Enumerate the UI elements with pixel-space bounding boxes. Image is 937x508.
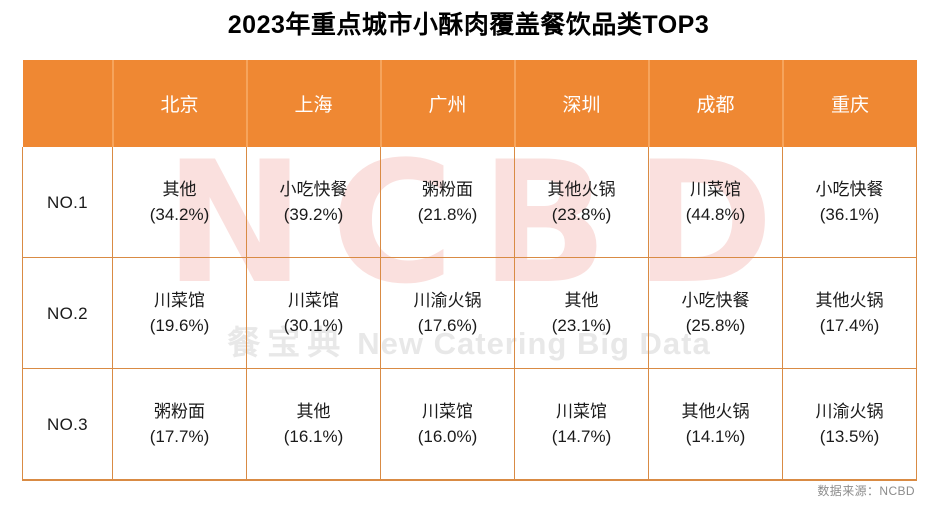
column-header-shanghai: 上海 xyxy=(247,60,381,147)
cell-percent: (21.8%) xyxy=(383,202,512,227)
source-note: 数据来源：NCBD xyxy=(817,482,915,499)
cell-category: 粥粉面 xyxy=(115,399,244,424)
cell-percent: (36.1%) xyxy=(785,202,914,227)
cell-percent: (19.6%) xyxy=(115,313,244,338)
table-cell: 川渝火锅 (13.5%) xyxy=(783,369,917,481)
cell-percent: (16.1%) xyxy=(249,424,378,449)
table-cell: 粥粉面 (17.7%) xyxy=(113,369,247,481)
cell-percent: (23.8%) xyxy=(517,202,646,227)
cell-category: 川菜馆 xyxy=(651,177,780,202)
table-row: NO.1 其他 (34.2%) 小吃快餐 (39.2%) 粥粉面 (21.8%) xyxy=(23,147,917,258)
cell-percent: (14.7%) xyxy=(517,424,646,449)
column-header-guangzhou: 广州 xyxy=(381,60,515,147)
cell-percent: (16.0%) xyxy=(383,424,512,449)
top3-table: 北京 上海 广州 深圳 成都 重庆 NO.1 其他 (34.2%) 小吃快餐 xyxy=(22,60,917,481)
column-header-chongqing: 重庆 xyxy=(783,60,917,147)
table-cell: 川渝火锅 (17.6%) xyxy=(381,258,515,369)
top3-table-container: 北京 上海 广州 深圳 成都 重庆 NO.1 其他 (34.2%) 小吃快餐 xyxy=(22,60,916,481)
cell-percent: (44.8%) xyxy=(651,202,780,227)
table-cell: 川菜馆 (16.0%) xyxy=(381,369,515,481)
table-body: NO.1 其他 (34.2%) 小吃快餐 (39.2%) 粥粉面 (21.8%) xyxy=(23,147,917,480)
cell-category: 川菜馆 xyxy=(517,399,646,424)
table-row: NO.3 粥粉面 (17.7%) 其他 (16.1%) 川菜馆 (16.0%) xyxy=(23,369,917,481)
column-header-chengdu: 成都 xyxy=(649,60,783,147)
table-cell: 粥粉面 (21.8%) xyxy=(381,147,515,258)
table-cell: 其他 (34.2%) xyxy=(113,147,247,258)
cell-category: 川渝火锅 xyxy=(383,288,512,313)
table-cell: 小吃快餐 (36.1%) xyxy=(783,147,917,258)
table-cell: 小吃快餐 (39.2%) xyxy=(247,147,381,258)
row-header-rank: NO.3 xyxy=(23,369,113,481)
cell-category: 川菜馆 xyxy=(383,399,512,424)
chart-page: 2023年重点城市小酥肉覆盖餐饮品类TOP3 NCBD 餐宝典New Cater… xyxy=(0,0,937,508)
cell-percent: (17.4%) xyxy=(785,313,914,338)
table-cell: 其他火锅 (17.4%) xyxy=(783,258,917,369)
cell-category: 川菜馆 xyxy=(249,288,378,313)
cell-category: 其他 xyxy=(249,399,378,424)
table-cell: 川菜馆 (19.6%) xyxy=(113,258,247,369)
cell-percent: (23.1%) xyxy=(517,313,646,338)
table-cell: 川菜馆 (14.7%) xyxy=(515,369,649,481)
cell-percent: (39.2%) xyxy=(249,202,378,227)
cell-percent: (25.8%) xyxy=(651,313,780,338)
table-cell: 其他火锅 (23.8%) xyxy=(515,147,649,258)
table-header: 北京 上海 广州 深圳 成都 重庆 xyxy=(23,60,917,147)
cell-category: 小吃快餐 xyxy=(651,288,780,313)
table-cell: 川菜馆 (44.8%) xyxy=(649,147,783,258)
cell-category: 粥粉面 xyxy=(383,177,512,202)
table-header-row: 北京 上海 广州 深圳 成都 重庆 xyxy=(23,60,917,147)
row-header-rank: NO.2 xyxy=(23,258,113,369)
cell-category: 其他火锅 xyxy=(517,177,646,202)
page-title: 2023年重点城市小酥肉覆盖餐饮品类TOP3 xyxy=(0,8,937,42)
cell-percent: (17.7%) xyxy=(115,424,244,449)
cell-category: 小吃快餐 xyxy=(785,177,914,202)
table-row: NO.2 川菜馆 (19.6%) 川菜馆 (30.1%) 川渝火锅 (17.6%… xyxy=(23,258,917,369)
cell-percent: (14.1%) xyxy=(651,424,780,449)
cell-category: 其他 xyxy=(115,177,244,202)
cell-percent: (13.5%) xyxy=(785,424,914,449)
cell-category: 其他 xyxy=(517,288,646,313)
column-header-beijing: 北京 xyxy=(113,60,247,147)
table-cell: 其他火锅 (14.1%) xyxy=(649,369,783,481)
cell-category: 川菜馆 xyxy=(115,288,244,313)
table-cell: 川菜馆 (30.1%) xyxy=(247,258,381,369)
cell-percent: (17.6%) xyxy=(383,313,512,338)
table-cell: 小吃快餐 (25.8%) xyxy=(649,258,783,369)
cell-category: 其他火锅 xyxy=(785,288,914,313)
cell-category: 小吃快餐 xyxy=(249,177,378,202)
table-corner-cell xyxy=(23,60,113,147)
cell-percent: (34.2%) xyxy=(115,202,244,227)
row-header-rank: NO.1 xyxy=(23,147,113,258)
column-header-shenzhen: 深圳 xyxy=(515,60,649,147)
cell-category: 川渝火锅 xyxy=(785,399,914,424)
cell-category: 其他火锅 xyxy=(651,399,780,424)
table-cell: 其他 (16.1%) xyxy=(247,369,381,481)
cell-percent: (30.1%) xyxy=(249,313,378,338)
table-cell: 其他 (23.1%) xyxy=(515,258,649,369)
